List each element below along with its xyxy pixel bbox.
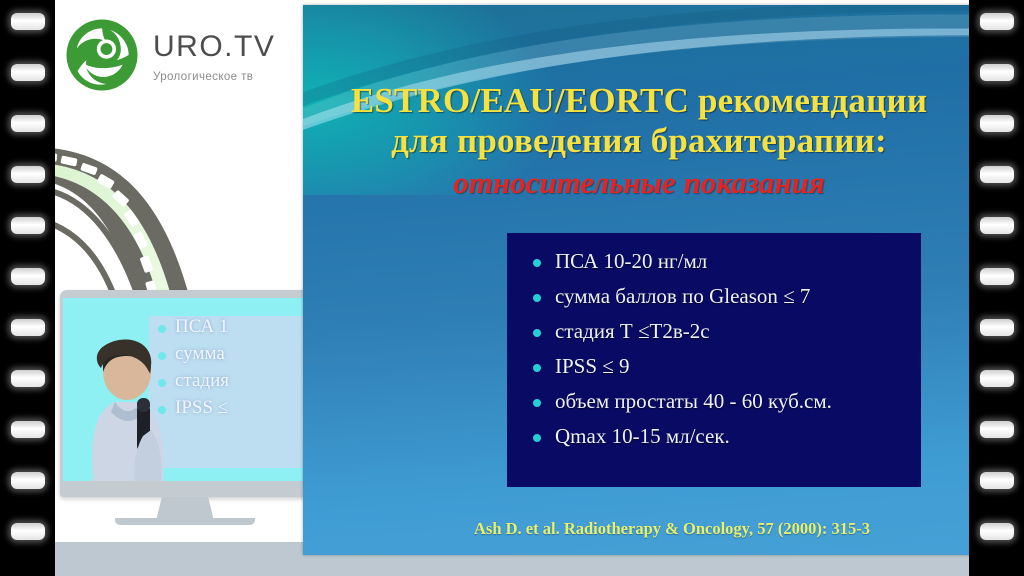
slide-citation: Ash D. et al. Radiotherapy & Oncology, 5…: [303, 519, 969, 539]
film-sprocket-hole: [980, 523, 1014, 540]
film-sprocket-hole: [980, 421, 1014, 438]
film-sprocket-hole: [980, 115, 1014, 132]
film-sprocket-hole: [980, 13, 1014, 30]
film-sprocket-hole: [11, 523, 45, 540]
film-sprocket-hole: [11, 268, 45, 285]
film-sprocket-hole: [980, 319, 1014, 336]
bullet-item: стадия Т ≤Т2в-2с: [529, 319, 921, 344]
film-strip-right: [969, 0, 1024, 576]
bullet-item: сумма баллов по Gleason ≤ 7: [529, 284, 921, 309]
monitor-stand-base: [115, 518, 255, 525]
uro-tv-swirl-logo-icon: [65, 18, 139, 92]
film-sprocket-hole: [11, 64, 45, 81]
film-sprocket-hole: [11, 166, 45, 183]
film-sprocket-hole: [11, 13, 45, 30]
monitor-screen: ПСА 1 сумма стадия IPSS ≤: [63, 298, 307, 481]
film-sprocket-hole: [11, 319, 45, 336]
film-sprocket-hole: [980, 217, 1014, 234]
bullet-item: объем простаты 40 - 60 куб.см.: [529, 389, 921, 414]
green-film-strip-graphic-icon: [55, 105, 315, 320]
slide-content-box: ПСА 10-20 нг/мл сумма баллов по Gleason …: [507, 233, 921, 487]
slide-title-line-1: ESTRO/EAU/EORTC рекомендации: [351, 81, 927, 120]
slide-title: ESTRO/EAU/EORTC рекомендации для проведе…: [303, 81, 969, 161]
video-frame: URO.TV Урологическое тв: [0, 0, 1024, 576]
slide-bullet-list: ПСА 10-20 нг/мл сумма баллов по Gleason …: [507, 233, 921, 449]
brand-subtitle: Урологическое тв: [153, 71, 275, 83]
film-sprocket-hole: [980, 64, 1014, 81]
content-panel: URO.TV Урологическое тв: [55, 0, 969, 576]
film-strip-left: [0, 0, 55, 576]
film-sprocket-hole: [11, 472, 45, 489]
slide-subtitle: относительные показания: [303, 165, 969, 201]
film-sprocket-hole: [11, 370, 45, 387]
presentation-slide[interactable]: ESTRO/EAU/EORTC рекомендации для проведе…: [303, 5, 969, 555]
film-sprocket-hole: [980, 472, 1014, 489]
bullet-item: Qmax 10-15 мл/сек.: [529, 424, 921, 449]
film-sprocket-hole: [11, 115, 45, 132]
presenter-figure: [71, 328, 176, 481]
presenter-video-inset[interactable]: ПСА 1 сумма стадия IPSS ≤: [60, 290, 310, 542]
film-sprocket-hole: [11, 421, 45, 438]
slide-title-line-2: для проведения брахитерапии:: [303, 121, 969, 161]
brand-title: URO.TV: [153, 32, 275, 62]
bullet-item: IPSS ≤ 9: [529, 354, 921, 379]
film-sprocket-hole: [980, 370, 1014, 387]
bullet-item: ПСА 10-20 нг/мл: [529, 249, 921, 274]
film-sprocket-hole: [980, 166, 1014, 183]
film-sprocket-hole: [11, 217, 45, 234]
film-sprocket-hole: [980, 268, 1014, 285]
